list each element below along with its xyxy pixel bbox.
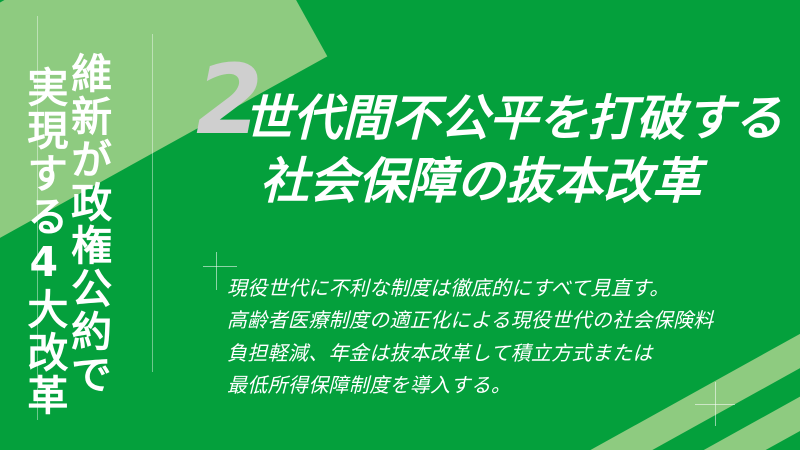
cross-horizontal-arm xyxy=(695,404,735,405)
top-left-diagonal-stripe xyxy=(0,0,364,29)
cross-vertical-arm xyxy=(216,252,217,290)
cross-horizontal-arm xyxy=(203,266,237,267)
body-text-block: 現役世代に不利な制度は徹底的にすべて見直す。 高齢者医療制度の適正化による現役世… xyxy=(227,272,767,402)
vertical-hairline-right xyxy=(152,34,153,372)
title-line-1: 世代間不公平を打破する xyxy=(244,88,783,151)
body-line: 高齢者医療制度の適正化による現役世代の社会保険料 xyxy=(227,304,767,336)
vertical-headline: 維新が政権公約で 実現する4大改革 xyxy=(22,30,108,430)
vertical-headline-column-right: 維新が政権公約で xyxy=(66,30,108,396)
body-line: 負担軽減、年金は抜本改革して積立方式または xyxy=(227,337,767,369)
title-line-2: 社会保障の抜本改革 xyxy=(244,151,783,214)
vertical-headline-column-left: 実現する4大改革 xyxy=(22,30,64,417)
body-line: 最低所得保障制度を導入する。 xyxy=(227,369,767,401)
body-line: 現役世代に不利な制度は徹底的にすべて見直す。 xyxy=(227,272,767,304)
slide-canvas: 維新が政権公約で 実現する4大改革 2 世代間不公平を打破する 社会保障の抜本改… xyxy=(0,0,800,450)
title-lines: 世代間不公平を打破する 社会保障の抜本改革 xyxy=(244,88,783,213)
